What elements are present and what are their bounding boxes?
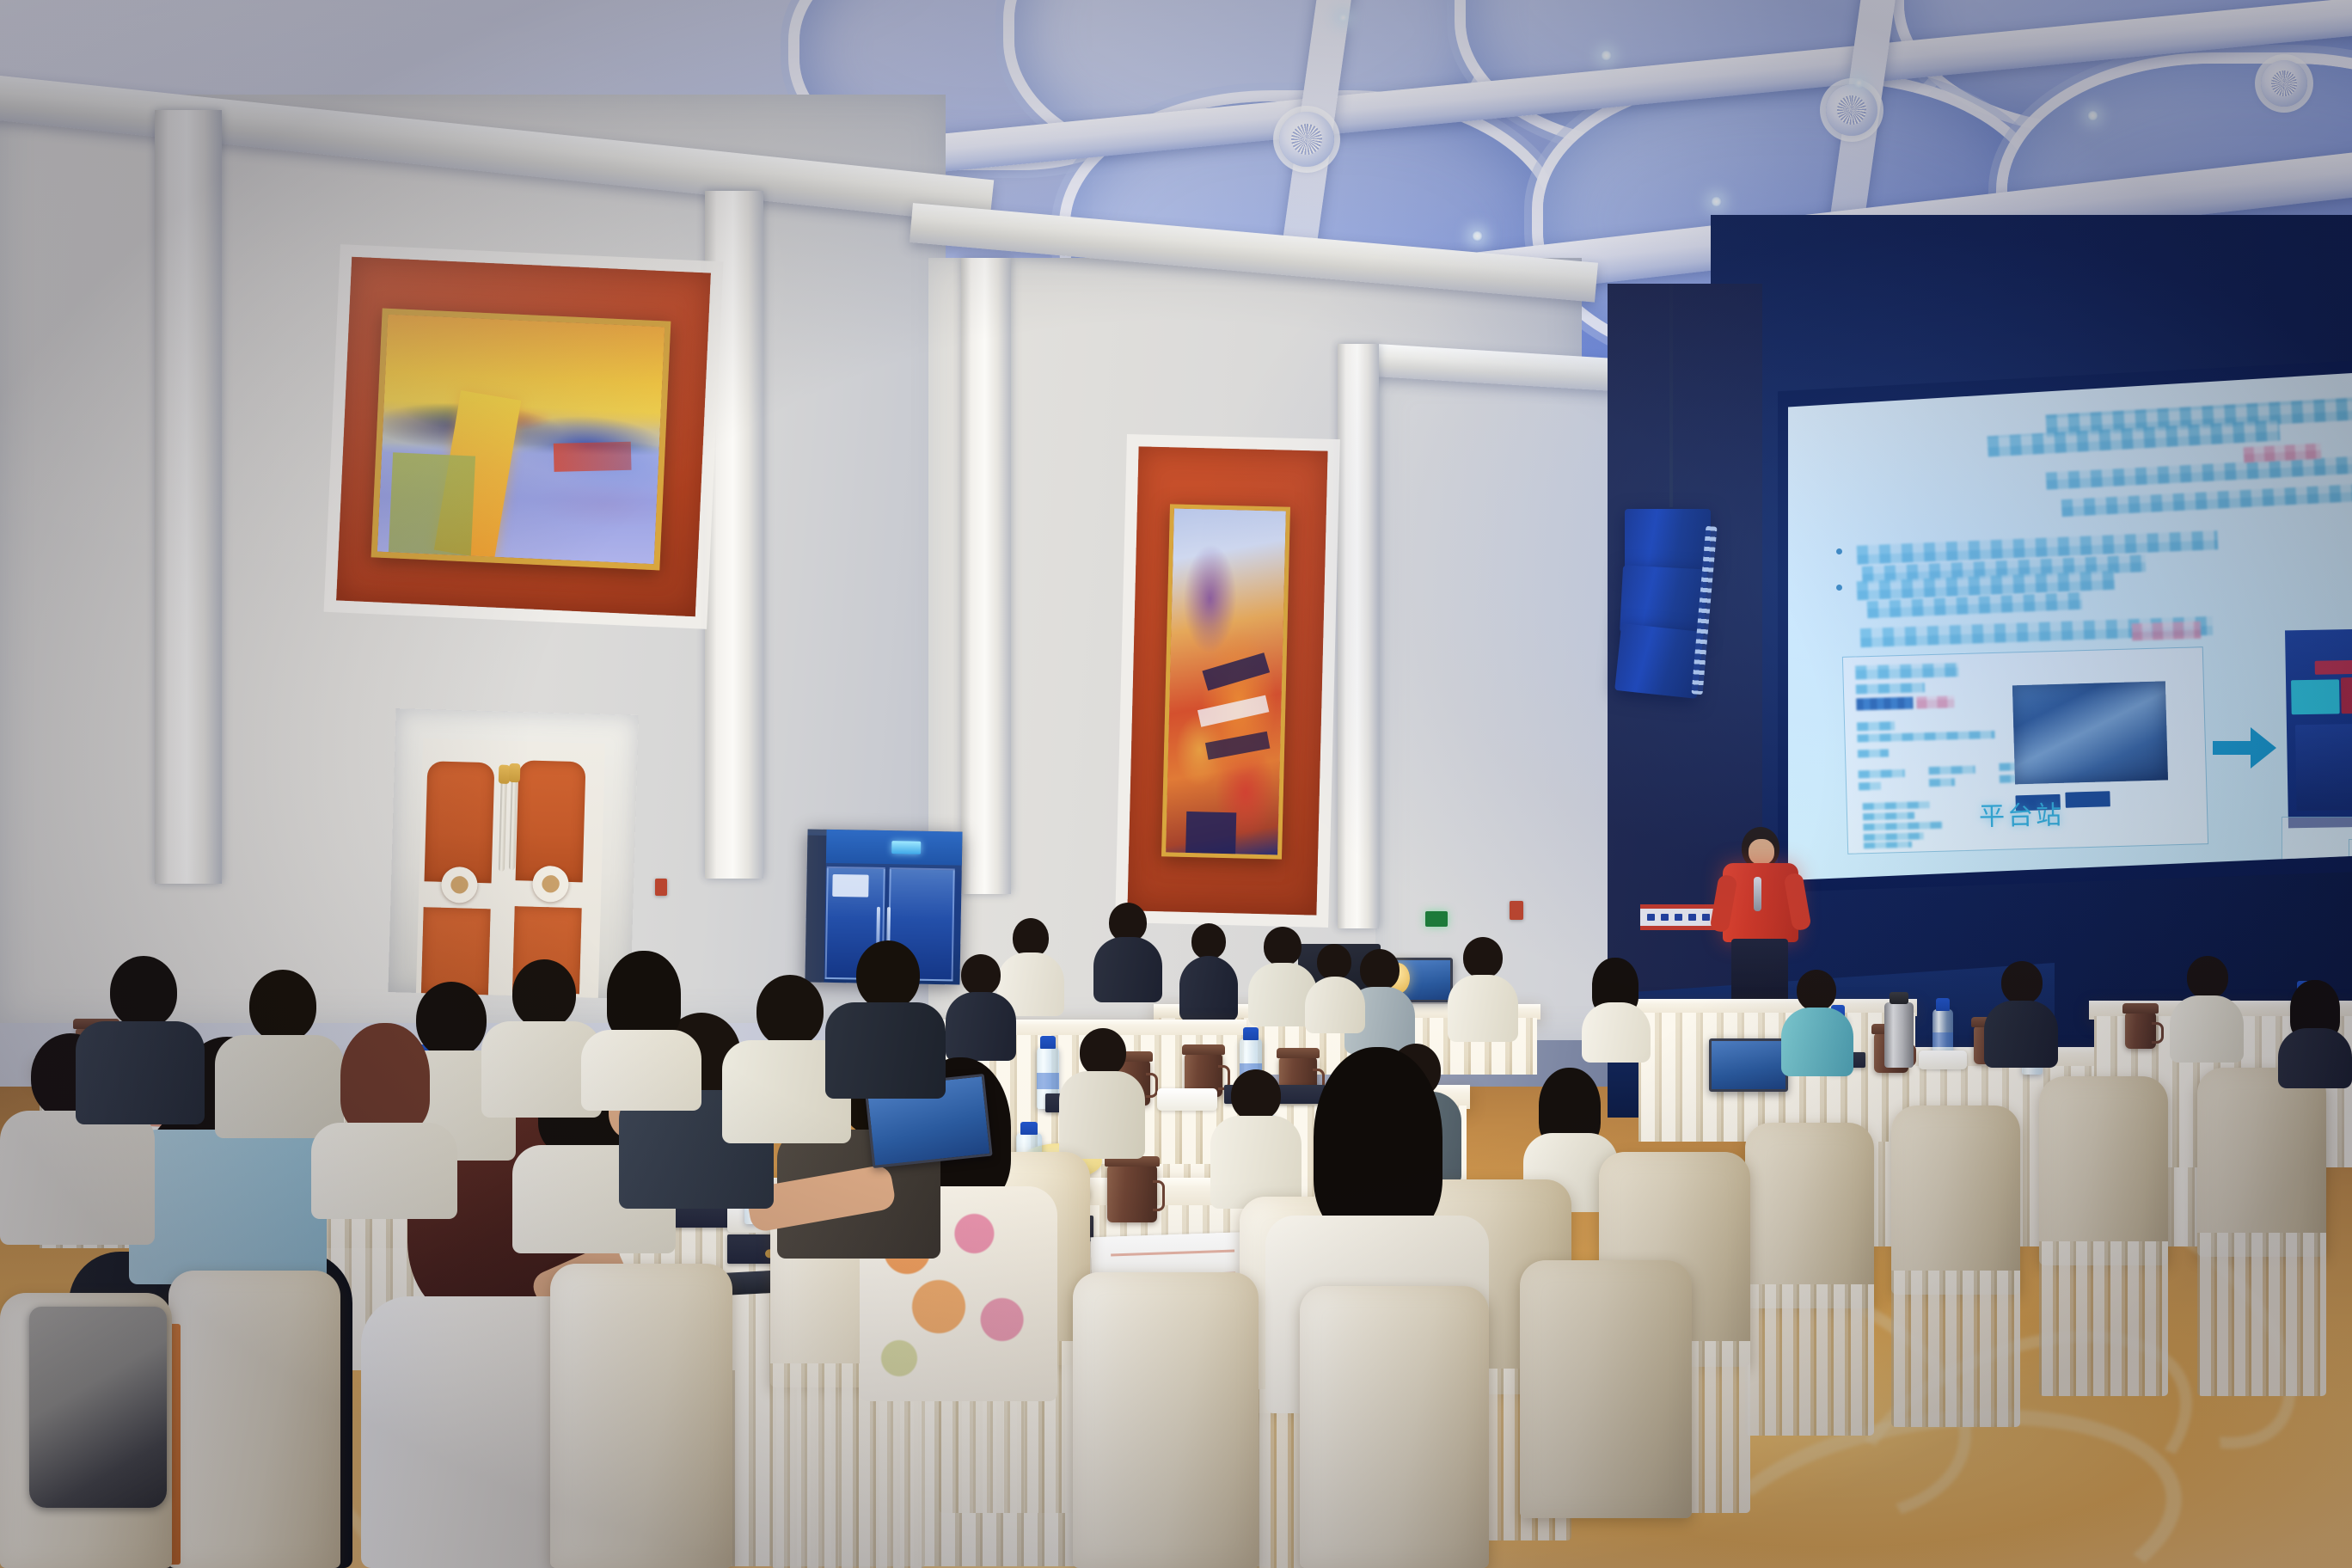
attendee-center: [581, 951, 701, 1102]
card-secondary-button[interactable]: [2065, 791, 2110, 807]
handout-rule: [1111, 1249, 1234, 1256]
cooler-warning-label: [832, 874, 868, 897]
attendee-torso: [0, 1111, 155, 1245]
attendee: [1582, 958, 1651, 1054]
lidded-tea-mug[interactable]: [1107, 1166, 1157, 1222]
attendee-torso: [1305, 977, 1365, 1033]
conference-hall-scene: 平台站: [0, 0, 2352, 1568]
attendee-torso: [581, 1030, 701, 1111]
presenter-face: [1749, 839, 1774, 865]
card-stat-value: [1929, 778, 1955, 787]
technician-torso: [1179, 956, 1238, 1021]
attendee-center: [825, 940, 946, 1092]
door-handle-left[interactable]: [499, 779, 507, 872]
ceiling-downlight: [2087, 110, 2098, 121]
painting-base-blue: [1186, 812, 1236, 854]
artwork-frame-horizontal[interactable]: [371, 309, 671, 571]
card-list-item: [1864, 832, 1924, 841]
slide-subheading-line: [2046, 456, 2352, 489]
app-red-badge: [2315, 660, 2352, 675]
attendee: [1093, 903, 1162, 999]
banquet-chair[interactable]: [2197, 1068, 2326, 1257]
sign-bar: [1688, 914, 1696, 921]
attendee-torso: [1059, 1071, 1145, 1159]
av-technician: [1178, 923, 1238, 1018]
attendee: [2170, 956, 2244, 1059]
lidded-tea-mug[interactable]: [2125, 1013, 2156, 1049]
card-list-item: [1863, 812, 1914, 821]
banquet-chair-foreground[interactable]: [168, 1271, 340, 1568]
line-array-speaker: [1609, 284, 1730, 731]
card-desc-text: [1857, 721, 1895, 731]
slide-bullet-dot: [1836, 548, 1842, 554]
attendee-torso: [311, 1123, 457, 1219]
speaker-low-module: [1614, 623, 1704, 699]
app-red-banner: [2341, 677, 2352, 714]
ceiling-downlight: [1853, 77, 1865, 89]
banquet-chair[interactable]: [2039, 1076, 2168, 1265]
ceiling-downlight: [1338, 12, 1349, 23]
chair-skirt: [2197, 1233, 2326, 1396]
card-list-item: [1863, 822, 1942, 831]
attendee: [1781, 970, 1853, 1073]
card-tag-alt: [1916, 695, 1954, 708]
ceiling-rosette: [2261, 60, 2307, 107]
attendee-head: [2187, 956, 2228, 999]
card-stat-label: [1928, 766, 1975, 775]
card-stat-label: [1859, 769, 1905, 779]
attendee-torso: [1781, 1008, 1853, 1076]
slide-subheading-line: [2061, 484, 2352, 517]
attendee-head: [249, 970, 316, 1042]
attendee-head: [1797, 970, 1836, 1011]
attendee-hair: [607, 951, 681, 1040]
sign-bar: [1675, 914, 1682, 921]
card-tag: [1856, 697, 1913, 711]
wall-pilaster: [1338, 344, 1379, 928]
wall-pilaster: [155, 110, 222, 884]
slide-app-screenshot: [2285, 628, 2352, 829]
technician-head: [1191, 923, 1226, 959]
sign-bar: [1661, 914, 1669, 921]
attendee-head: [961, 954, 1001, 995]
cooler-display: [891, 841, 921, 854]
sign-bar: [1647, 914, 1655, 921]
chair-skirt: [1891, 1271, 2020, 1427]
attendee: [1448, 937, 1518, 1037]
attendee-head: [1317, 944, 1351, 980]
attendee-torso: [1448, 975, 1518, 1042]
exit-sign: [1425, 911, 1448, 927]
door-panel-upper-left: [425, 761, 495, 883]
ceiling-downlight: [1601, 50, 1612, 61]
speaker-top-module: [1625, 509, 1711, 571]
attendee: [2278, 980, 2352, 1087]
attendee-hair: [1314, 1047, 1442, 1236]
ceiling-rosette: [1279, 112, 1334, 167]
painting-red-accent: [553, 442, 631, 472]
attendee-torso: [129, 1130, 327, 1284]
app-content-block: [2295, 723, 2352, 811]
ceiling-rosette: [1826, 84, 1877, 136]
attendee-torso: [2278, 1028, 2352, 1088]
wall-pilaster: [705, 191, 763, 879]
ceiling-downlight: [1711, 196, 1722, 207]
attendee: [1984, 961, 2058, 1064]
folded-napkin: [1157, 1088, 1217, 1111]
banquet-chair-foreground[interactable]: [1300, 1286, 1489, 1568]
door-panel-upper-right: [516, 760, 586, 882]
folded-napkin: [1919, 1050, 1967, 1069]
attendee: [946, 954, 1016, 1056]
slide-flow-arrow-icon: [2211, 719, 2278, 782]
attendee-head: [756, 975, 824, 1047]
card-desc-text: [1857, 731, 1994, 742]
card-title-text: [1855, 663, 1958, 679]
card-list-item: [1864, 842, 1912, 849]
attendee-torso: [825, 1002, 946, 1099]
painting-olive-patch: [389, 452, 476, 555]
door-medallion-right: [532, 866, 569, 903]
backpack-on-chair[interactable]: [29, 1307, 167, 1508]
fire-alarm-box[interactable]: [1510, 901, 1523, 920]
fire-alarm-box[interactable]: [655, 879, 667, 896]
handheld-microphone[interactable]: [1754, 877, 1761, 911]
attendee: [1059, 1028, 1145, 1157]
card-stat-value: [1859, 782, 1881, 791]
slide-caption: 平台站: [1979, 793, 2065, 833]
artwork-frame-vertical[interactable]: [1161, 504, 1290, 859]
cooler-side-panel: [805, 836, 826, 983]
projection-screen[interactable]: 平台站: [1788, 371, 2352, 880]
card-list-item: [1863, 801, 1930, 810]
attendee-torso: [76, 1021, 205, 1124]
attendee-head: [1080, 1028, 1126, 1076]
attendee-hair: [340, 1023, 430, 1133]
banquet-chair[interactable]: [1891, 1106, 2020, 1295]
attendee-torso: [1582, 1002, 1651, 1063]
attendee: [1305, 944, 1365, 1030]
attendee-head: [1463, 937, 1503, 978]
attendee-head: [512, 959, 576, 1028]
wall-pilaster: [961, 258, 1011, 894]
attendee-center: [76, 956, 205, 1119]
attendee-torso: [946, 992, 1016, 1061]
attendee-torso: [2170, 995, 2244, 1063]
slide-body-highlight: [2132, 622, 2202, 641]
attendee-torso: [1093, 937, 1162, 1002]
chair-skirt: [1745, 1284, 1874, 1436]
attendee-torso: [1984, 1001, 2058, 1068]
banquet-chair-foreground[interactable]: [550, 1264, 732, 1568]
slide-bullet-dot: [1836, 585, 1842, 591]
attendee-head: [2001, 961, 2043, 1004]
attendee-head: [1360, 949, 1400, 990]
card-meta-text: [1856, 683, 1925, 694]
app-cyan-tile: [2291, 679, 2340, 714]
banquet-chair-foreground[interactable]: [1520, 1260, 1692, 1518]
attendee-laptop[interactable]: [1709, 1038, 1788, 1092]
banquet-chair-foreground[interactable]: [1073, 1272, 1259, 1568]
ceiling-downlight: [1472, 230, 1483, 242]
attendee-head: [856, 940, 920, 1009]
attendee-head: [1264, 927, 1302, 966]
door-medallion-left: [441, 867, 478, 903]
attendee-center: [311, 1023, 457, 1212]
card-thumbnail-image: [2012, 681, 2168, 784]
card-desc-text: [1858, 749, 1889, 757]
speaker-suspension-cable: [1669, 284, 1673, 507]
attendee-head: [110, 956, 177, 1028]
chair-skirt: [2039, 1241, 2168, 1396]
banquet-chair[interactable]: [1745, 1123, 1874, 1308]
thermos-flask[interactable]: [1884, 1002, 1914, 1068]
